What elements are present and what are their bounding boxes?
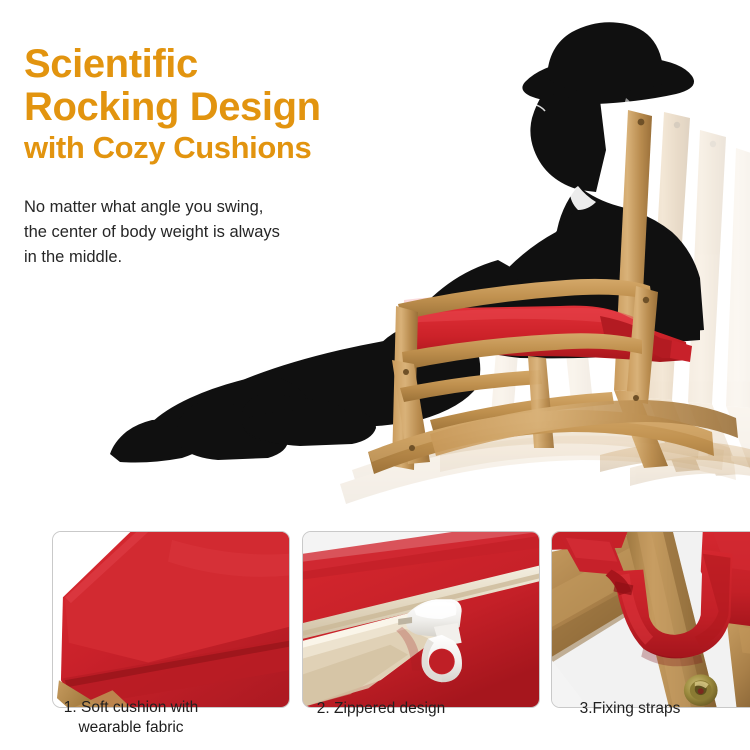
zipper-photo <box>303 532 539 707</box>
feature-panel-soft-cushion[interactable] <box>52 531 290 708</box>
caption-1-line-2: wearable fabric <box>12 718 250 738</box>
caption-row: 1. Soft cushion with wearable fabric 2. … <box>0 698 750 750</box>
product-feature-image: Scientific Rocking Design with Cozy Cush… <box>0 0 750 750</box>
body-copy-line-1: No matter what angle you swing, <box>24 195 374 220</box>
hero-section: Scientific Rocking Design with Cozy Cush… <box>0 0 750 508</box>
page-title: Scientific Rocking Design with Cozy Cush… <box>24 43 384 164</box>
body-copy-line-2: the center of body weight is always <box>24 220 374 245</box>
headline-line-2: Rocking Design <box>24 86 384 129</box>
caption-1-line-1: 1. Soft cushion with <box>12 698 250 718</box>
feature-panel-row <box>0 515 750 693</box>
fixing-straps-photo <box>552 532 750 707</box>
caption-2-line-1: 2. Zippered design <box>262 699 500 719</box>
caption-fixing-straps: 3.Fixing straps <box>511 698 749 719</box>
headline-line-1: Scientific <box>24 43 384 86</box>
headline-line-3: with Cozy Cushions <box>24 131 384 164</box>
feature-panel-zippered-design[interactable] <box>302 531 540 708</box>
body-copy-line-3: in the middle. <box>24 245 374 270</box>
soft-cushion-photo <box>53 532 289 707</box>
face-profile-notch <box>508 110 530 142</box>
caption-zippered-design: 2. Zippered design <box>262 698 500 719</box>
caption-soft-cushion: 1. Soft cushion with wearable fabric <box>12 698 250 738</box>
body-copy: No matter what angle you swing, the cent… <box>24 195 374 270</box>
caption-3-line-1: 3.Fixing straps <box>511 699 749 719</box>
feature-panel-fixing-straps[interactable] <box>551 531 750 708</box>
